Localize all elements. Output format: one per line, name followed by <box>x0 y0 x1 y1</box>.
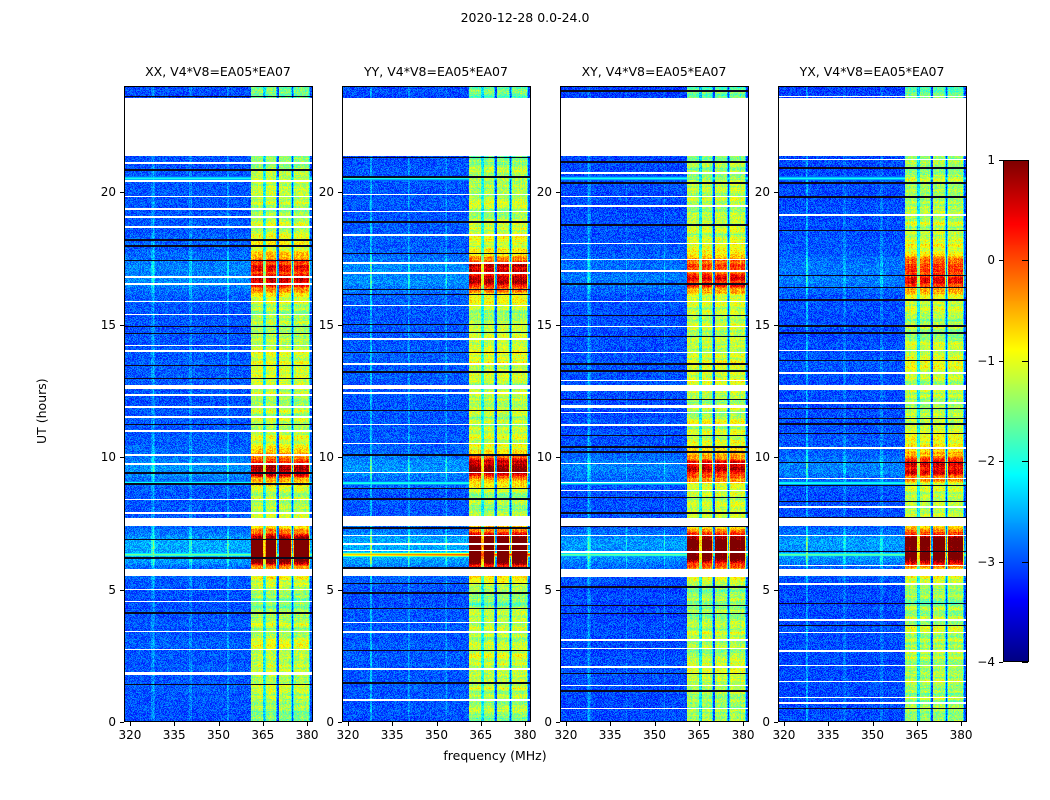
xtick-label-yx-320: 320 <box>772 728 795 742</box>
xtick-label-xx-365: 365 <box>251 728 274 742</box>
xtick-label-xy-380: 380 <box>732 728 755 742</box>
ytick-mark <box>774 590 778 591</box>
ytick-mark <box>556 590 560 591</box>
ytick-label-xy-20: 20 <box>522 185 552 199</box>
colorbar-tick-mark-inner <box>1022 160 1028 161</box>
xtick-mark <box>130 722 131 726</box>
waterfall-image-xy <box>561 87 749 722</box>
ytick-mark <box>556 722 560 723</box>
xtick-mark <box>610 722 611 726</box>
ytick-label-xy-15: 15 <box>522 318 552 332</box>
xtick-mark <box>828 722 829 726</box>
ytick-label-xy-5: 5 <box>522 583 552 597</box>
xtick-label-yx-380: 380 <box>950 728 973 742</box>
waterfall-axes-yy <box>342 86 531 722</box>
xtick-label-xx-335: 335 <box>163 728 186 742</box>
panel-title-yy: YY, V4*V8=EA05*EA07 <box>332 64 540 79</box>
ytick-label-xx-10: 10 <box>86 450 116 464</box>
xtick-label-xx-320: 320 <box>118 728 141 742</box>
xtick-label-yy-335: 335 <box>381 728 404 742</box>
y-axis-label: UT (hours) <box>34 378 49 444</box>
ytick-label-yy-5: 5 <box>304 583 334 597</box>
xtick-label-xx-350: 350 <box>207 728 230 742</box>
colorbar-tick-label--2: −2 <box>963 454 995 468</box>
xtick-label-yx-350: 350 <box>861 728 884 742</box>
ytick-mark <box>120 457 124 458</box>
waterfall-image-yy <box>343 87 531 722</box>
ytick-mark <box>556 192 560 193</box>
ytick-label-yy-0: 0 <box>304 715 334 729</box>
ytick-label-yx-0: 0 <box>740 715 770 729</box>
ytick-mark <box>338 590 342 591</box>
ytick-label-yy-10: 10 <box>304 450 334 464</box>
waterfall-image-yx <box>779 87 967 722</box>
xtick-mark <box>348 722 349 726</box>
ytick-label-yx-5: 5 <box>740 583 770 597</box>
xtick-mark <box>566 722 567 726</box>
waterfall-axes-yx <box>778 86 967 722</box>
xtick-label-xy-320: 320 <box>554 728 577 742</box>
figure-suptitle: 2020-12-28 0.0-24.0 <box>0 10 1050 25</box>
panel-yy: YY, V4*V8=EA05*EA07 <box>342 86 531 722</box>
panel-xy: XY, V4*V8=EA05*EA07 <box>560 86 749 722</box>
ytick-mark <box>120 590 124 591</box>
xtick-label-xy-335: 335 <box>599 728 622 742</box>
colorbar-tick-mark <box>999 160 1003 161</box>
xtick-mark <box>174 722 175 726</box>
xtick-mark <box>263 722 264 726</box>
xtick-label-xx-380: 380 <box>296 728 319 742</box>
waterfall-axes-xy <box>560 86 749 722</box>
xtick-mark <box>961 722 962 726</box>
xtick-label-yy-380: 380 <box>514 728 537 742</box>
colorbar-tick-label--3: −3 <box>963 555 995 569</box>
panel-title-xx: XX, V4*V8=EA05*EA07 <box>114 64 322 79</box>
ytick-mark <box>774 192 778 193</box>
ytick-label-yy-20: 20 <box>304 185 334 199</box>
ytick-mark <box>120 722 124 723</box>
x-axis-label: frequency (MHz) <box>0 748 1050 763</box>
ytick-label-xx-5: 5 <box>86 583 116 597</box>
ytick-label-yx-10: 10 <box>740 450 770 464</box>
xtick-label-yx-365: 365 <box>905 728 928 742</box>
xtick-mark <box>219 722 220 726</box>
waterfall-axes-xx <box>124 86 313 722</box>
colorbar-tick-mark <box>999 260 1003 261</box>
ytick-label-xy-0: 0 <box>522 715 552 729</box>
colorbar-tick-label-0: 0 <box>963 253 995 267</box>
colorbar-tick-mark-inner <box>1022 361 1028 362</box>
colorbar-tick-label--1: −1 <box>963 354 995 368</box>
ytick-mark <box>338 192 342 193</box>
ytick-label-yx-20: 20 <box>740 185 770 199</box>
colorbar-tick-mark <box>999 562 1003 563</box>
xtick-mark <box>481 722 482 726</box>
xtick-label-xy-365: 365 <box>687 728 710 742</box>
waterfall-image-xx <box>125 87 313 722</box>
xtick-mark <box>917 722 918 726</box>
colorbar-tick-mark <box>999 662 1003 663</box>
ytick-mark <box>774 325 778 326</box>
panel-yx: YX, V4*V8=EA05*EA07 <box>778 86 967 722</box>
xtick-mark <box>873 722 874 726</box>
colorbar-tick-mark <box>999 461 1003 462</box>
ytick-mark <box>774 457 778 458</box>
xtick-mark <box>655 722 656 726</box>
ytick-label-xx-15: 15 <box>86 318 116 332</box>
ytick-mark <box>556 457 560 458</box>
xtick-mark <box>784 722 785 726</box>
panel-title-xy: XY, V4*V8=EA05*EA07 <box>550 64 758 79</box>
xtick-mark <box>437 722 438 726</box>
xtick-mark <box>699 722 700 726</box>
ytick-label-xx-20: 20 <box>86 185 116 199</box>
ytick-mark <box>120 192 124 193</box>
ytick-mark <box>556 325 560 326</box>
colorbar-tick-label--4: −4 <box>963 655 995 669</box>
xtick-mark <box>392 722 393 726</box>
panel-xx: XX, V4*V8=EA05*EA07 <box>124 86 313 722</box>
xtick-label-yy-350: 350 <box>425 728 448 742</box>
ytick-label-yy-15: 15 <box>304 318 334 332</box>
ytick-label-yx-15: 15 <box>740 318 770 332</box>
ytick-mark <box>338 457 342 458</box>
colorbar-tick-label-1: 1 <box>963 153 995 167</box>
xtick-label-yy-320: 320 <box>336 728 359 742</box>
ytick-mark <box>338 325 342 326</box>
colorbar <box>1003 160 1029 662</box>
ytick-label-xx-0: 0 <box>86 715 116 729</box>
ytick-mark <box>774 722 778 723</box>
panel-title-yx: YX, V4*V8=EA05*EA07 <box>768 64 976 79</box>
colorbar-tick-mark-inner <box>1022 562 1028 563</box>
xtick-label-yx-335: 335 <box>817 728 840 742</box>
ytick-label-xy-10: 10 <box>522 450 552 464</box>
xtick-label-xy-350: 350 <box>643 728 666 742</box>
xtick-label-yy-365: 365 <box>469 728 492 742</box>
ytick-mark <box>120 325 124 326</box>
colorbar-tick-mark-inner <box>1022 461 1028 462</box>
colorbar-gradient <box>1004 161 1029 662</box>
colorbar-tick-mark-inner <box>1022 662 1028 663</box>
ytick-mark <box>338 722 342 723</box>
colorbar-tick-mark-inner <box>1022 260 1028 261</box>
colorbar-tick-mark <box>999 361 1003 362</box>
figure-canvas: 2020-12-28 0.0-24.0 UT (hours) frequency… <box>0 0 1050 800</box>
